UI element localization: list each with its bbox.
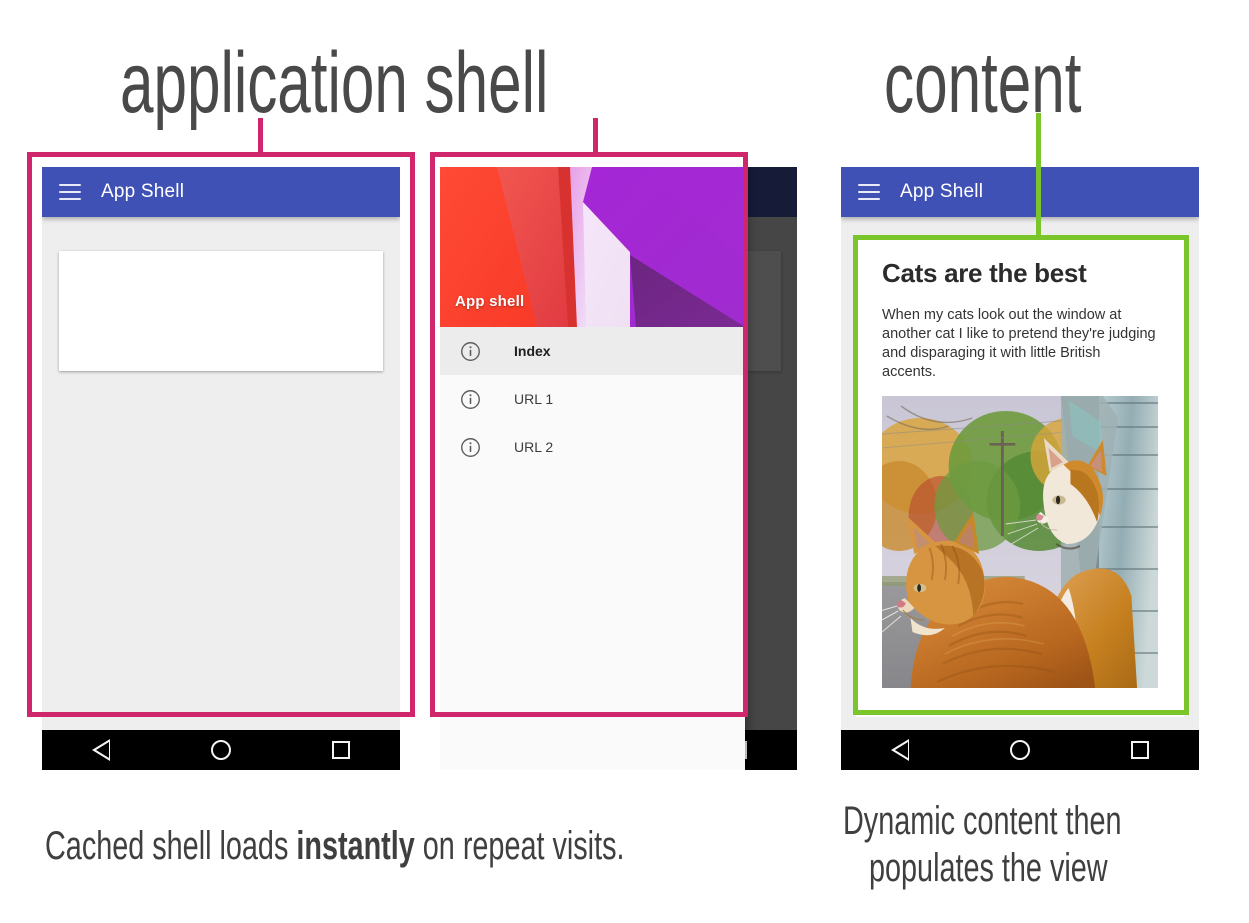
- highlight-box-drawer-shell: [430, 152, 748, 717]
- back-triangle-icon[interactable]: [92, 739, 111, 761]
- home-circle-icon[interactable]: [1010, 740, 1030, 760]
- annotation-label-application-shell: application shell: [120, 40, 548, 126]
- appbar-shell: App Shell: [42, 167, 400, 217]
- annotation-label-content: content: [884, 40, 1081, 126]
- caption-left-pre: Cached shell loads: [45, 824, 296, 868]
- connector-stem-shell-right: [593, 118, 598, 156]
- caption-left: Cached shell loads instantly on repeat v…: [45, 825, 624, 867]
- hamburger-icon[interactable]: [59, 184, 81, 200]
- caption-left-strong: instantly: [296, 824, 414, 868]
- hamburger-icon[interactable]: [858, 184, 880, 200]
- connector-stem-content: [1036, 113, 1041, 238]
- connector-stem-shell-left: [258, 118, 263, 156]
- android-navbar-1: [42, 730, 400, 770]
- caption-right-line-1: Dynamic content then: [843, 800, 1122, 842]
- highlight-box-content: [853, 235, 1189, 715]
- back-triangle-icon[interactable]: [891, 739, 910, 761]
- recents-square-icon[interactable]: [1131, 741, 1149, 759]
- android-navbar-3: [841, 730, 1199, 770]
- appbar-title: App Shell: [900, 181, 983, 203]
- caption-right-line-2: populates the view: [869, 847, 1108, 889]
- appbar-content: App Shell: [841, 167, 1199, 217]
- caption-left-post: on repeat visits.: [415, 824, 625, 868]
- home-circle-icon[interactable]: [211, 740, 231, 760]
- diagram-canvas: application shell content App Shell: [0, 0, 1249, 923]
- highlight-box-app-shell: [27, 152, 415, 717]
- recents-square-icon[interactable]: [332, 741, 350, 759]
- appbar-title: App Shell: [101, 181, 184, 203]
